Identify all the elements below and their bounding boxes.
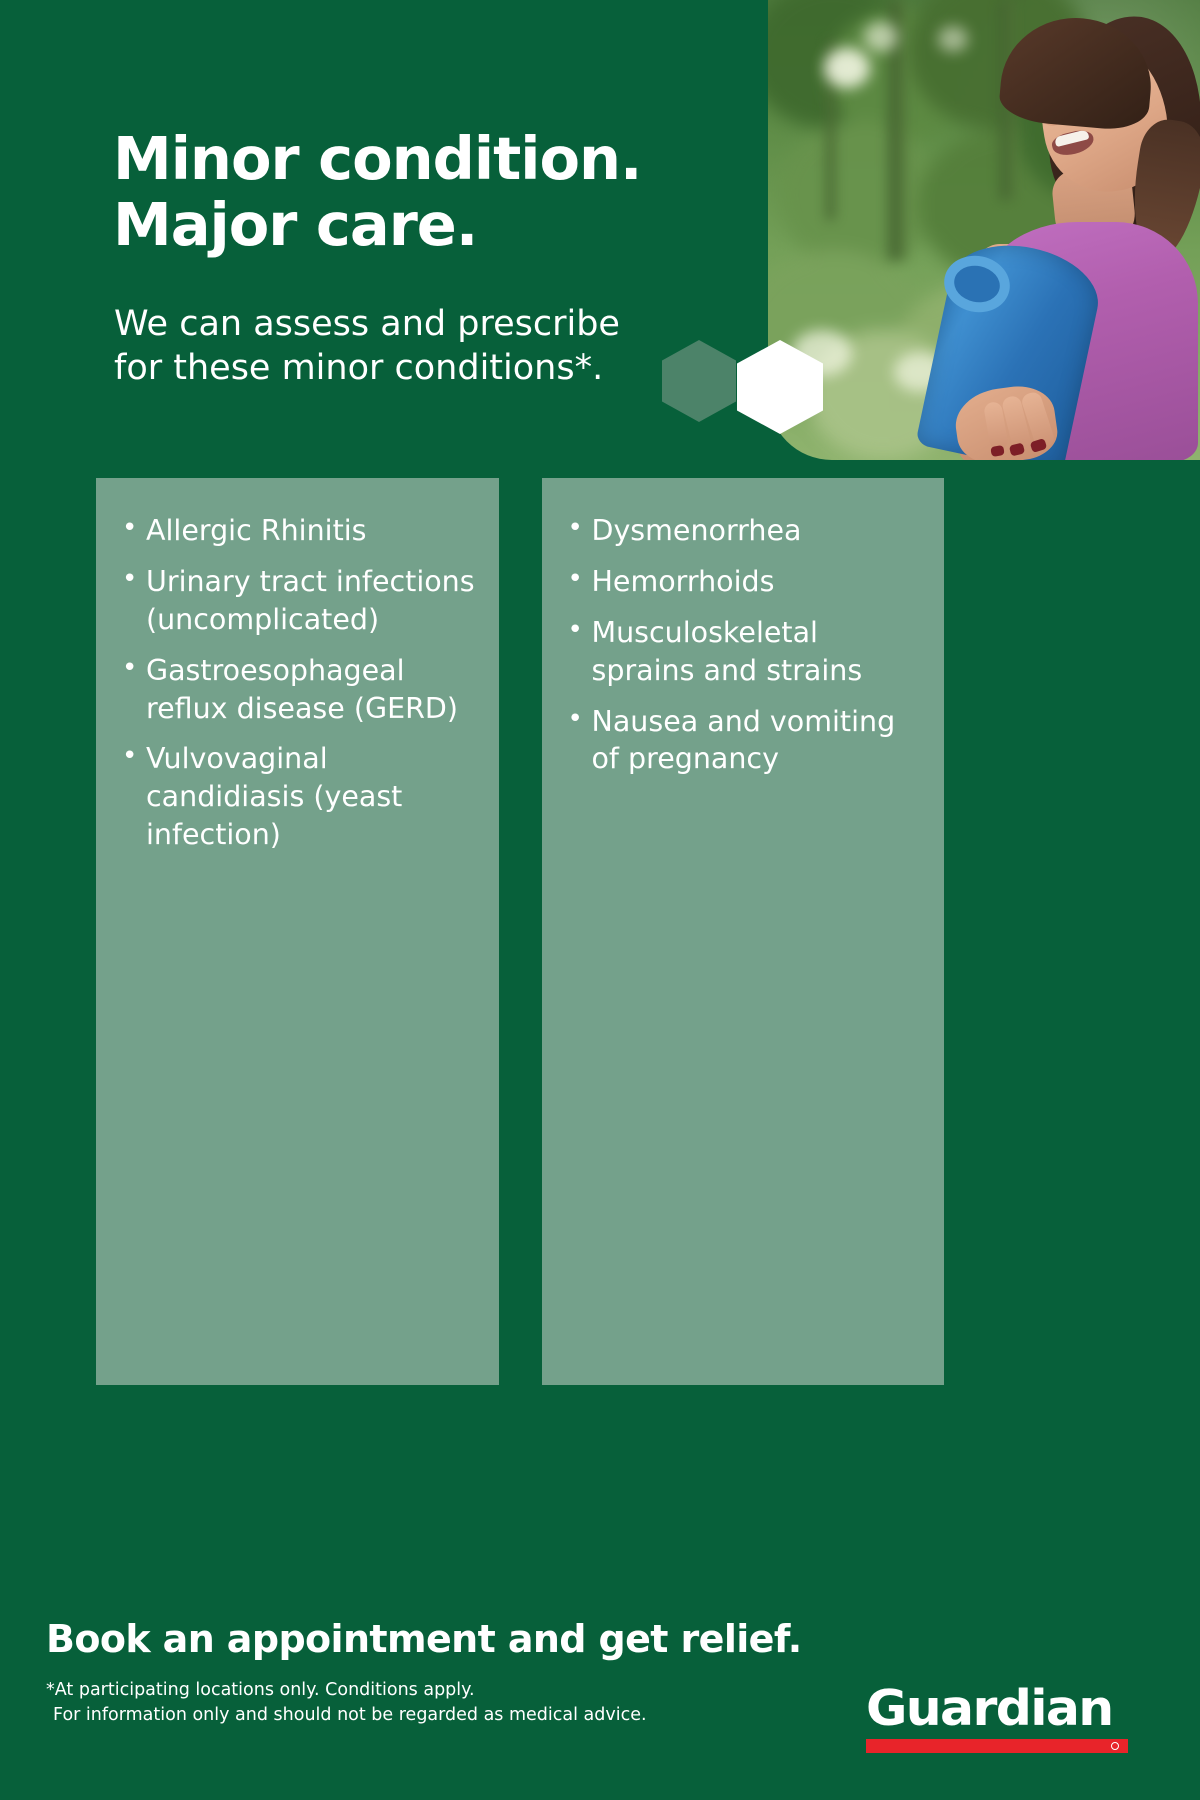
call-to-action: Book an appointment and get relief. [46,1617,802,1661]
subheading: We can assess and prescribe for these mi… [114,303,620,391]
guardian-logo: Guardian [866,1684,1128,1753]
woman-figure [956,0,1200,460]
list-item: Vulvovaginal candidiasis (yeast infectio… [120,740,479,854]
disclaimer-line-1: *At participating locations only. Condit… [46,1680,475,1700]
conditions-list-right: Dysmenorrhea Hemorrhoids Musculoskeletal… [566,512,925,778]
subheading-line-1: We can assess and prescribe [114,304,620,344]
disclaimer: *At participating locations only. Condit… [46,1678,647,1728]
list-item: Nausea and vomiting of pregnancy [566,703,925,779]
list-item: Hemorrhoids [566,563,925,601]
conditions-panel-right: Dysmenorrhea Hemorrhoids Musculoskeletal… [542,478,945,1385]
conditions-panel-left: Allergic Rhinitis Urinary tract infectio… [96,478,499,1385]
list-item: Dysmenorrhea [566,512,925,550]
hero-photo-background [768,0,1200,460]
registered-trademark-icon [1111,1742,1119,1750]
conditions-panels: Allergic Rhinitis Urinary tract infectio… [96,478,944,1385]
list-item: Musculoskeletal sprains and strains [566,614,925,690]
hero-photo [768,0,1200,460]
list-item: Urinary tract infections (uncomplicated) [120,563,479,639]
headline-line-2: Major care. [113,190,477,259]
list-item: Gastroesophageal reflux disease (GERD) [120,652,479,728]
guardian-logo-red-bar [866,1739,1128,1753]
guardian-logo-wordmark: Guardian [866,1684,1136,1733]
subheading-line-2: for these minor conditions*. [114,348,603,388]
list-item: Allergic Rhinitis [120,512,479,550]
disclaimer-line-2: For information only and should not be r… [46,1703,647,1728]
page-title: Minor condition. Major care. [113,126,641,258]
hexagon-dark-accent [662,340,736,422]
headline-line-1: Minor condition. [113,124,641,193]
conditions-list-left: Allergic Rhinitis Urinary tract infectio… [120,512,479,854]
